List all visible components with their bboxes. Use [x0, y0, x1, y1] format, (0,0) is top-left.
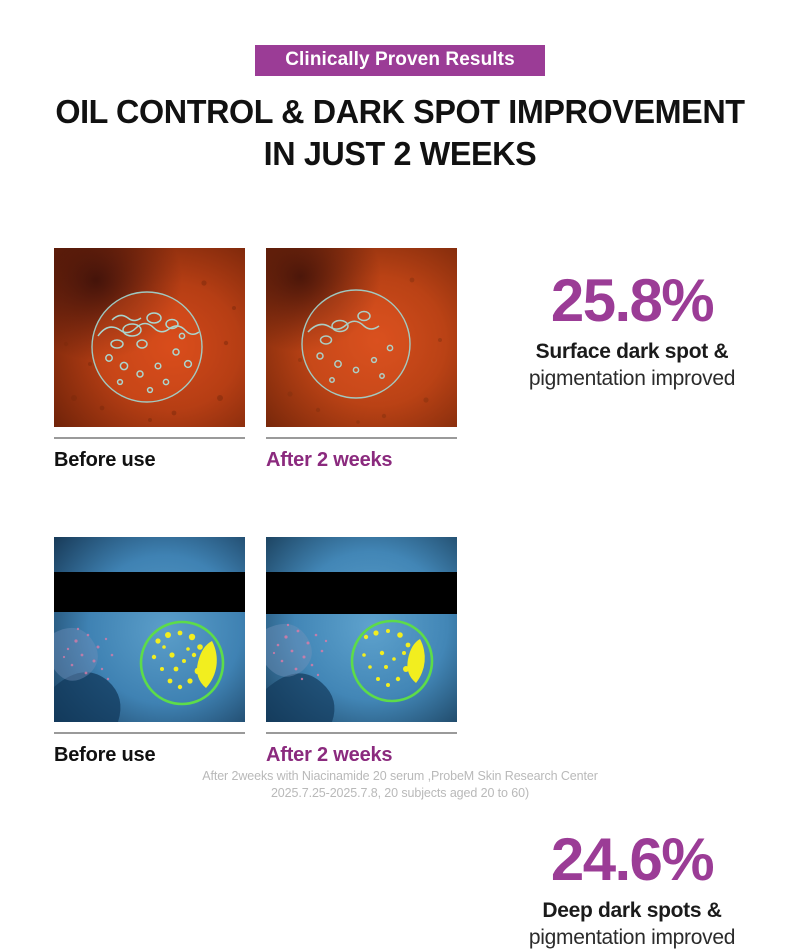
headline-line-2: IN JUST 2 WEEKS [14, 134, 786, 176]
photo-cell-before-surface: Before use [54, 248, 245, 472]
photo-pair-surface: Before use [54, 248, 457, 472]
photo-pair-deep: Before use [54, 537, 457, 767]
stat-deep-dark-spots: 24.6% Deep dark spots & pigmentation imp… [482, 829, 782, 951]
caption-after-deep: After 2 weeks [266, 743, 457, 767]
caption-before-deep: Before use [54, 743, 245, 767]
caption-after-surface: After 2 weeks [266, 448, 457, 472]
footnote-line-1: After 2weeks with Niacinamide 20 serum ,… [0, 768, 800, 785]
photo-after-surface [266, 248, 457, 427]
study-footnote: After 2weeks with Niacinamide 20 serum ,… [0, 768, 800, 802]
caption-before-surface: Before use [54, 448, 245, 472]
photo-before-deep [54, 537, 245, 722]
stat-value-surface: 25.8% [482, 270, 782, 332]
badge-row: Clinically Proven Results [0, 45, 800, 76]
stat-label-line2-deep: pigmentation improved [482, 924, 782, 951]
results-content: Before use [0, 248, 800, 767]
stat-surface-dark-spot: 25.8% Surface dark spot & pigmentation i… [482, 270, 782, 392]
stat-label-line1-surface: Surface dark spot & [482, 338, 782, 365]
photo-cell-after-deep: After 2 weeks [266, 537, 457, 767]
stat-label-line2-surface: pigmentation improved [482, 365, 782, 392]
photo-cell-after-surface: After 2 weeks [266, 248, 457, 472]
photo-divider [54, 437, 245, 439]
photo-before-surface [54, 248, 245, 427]
photo-cell-before-deep: Before use [54, 537, 245, 767]
stat-value-deep: 24.6% [482, 829, 782, 891]
photo-divider [54, 732, 245, 734]
clinically-proven-badge: Clinically Proven Results [255, 45, 545, 76]
headline-line-1: OIL CONTROL & DARK SPOT IMPROVEMENT [14, 92, 786, 134]
stat-label-line1-deep: Deep dark spots & [482, 897, 782, 924]
photo-after-deep [266, 537, 457, 722]
result-block-surface: Before use [0, 248, 800, 472]
result-block-deep: Before use [0, 537, 800, 767]
photo-divider [266, 732, 457, 734]
page-title: OIL CONTROL & DARK SPOT IMPROVEMENT IN J… [14, 92, 786, 176]
photo-divider [266, 437, 457, 439]
footnote-line-2: 2025.7.25-2025.7.8, 20 subjects aged 20 … [0, 785, 800, 802]
